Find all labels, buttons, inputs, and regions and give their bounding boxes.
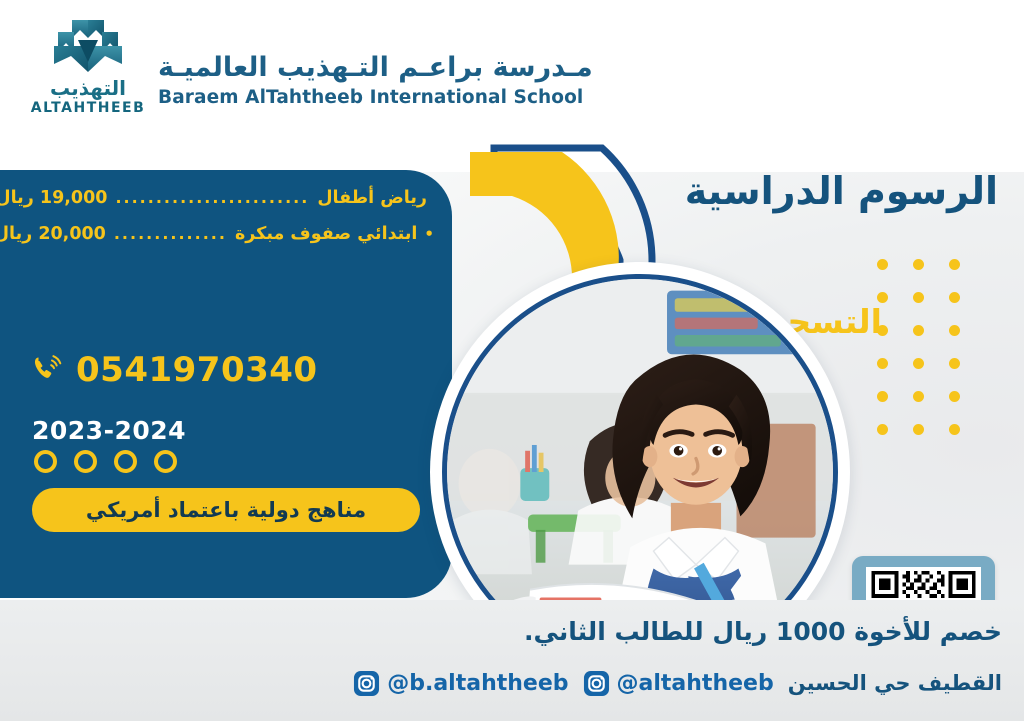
poster-header: التهذيب ALTAHTHEEB مـدرسة براعـم التـهذي…	[0, 0, 1024, 150]
logo-latin-wordmark: ALTAHTHEEB	[31, 101, 146, 115]
grid-dot	[913, 358, 924, 369]
grid-dot	[913, 325, 924, 336]
fee-amount: 20,000 ريال	[0, 224, 106, 244]
ring-decoration-group	[34, 450, 177, 473]
grid-dot	[877, 259, 888, 270]
instagram-icon[interactable]	[583, 670, 610, 697]
grid-dot	[877, 424, 888, 435]
instagram-icon[interactable]	[353, 670, 380, 697]
fee-leader-dots: ........................	[115, 188, 309, 207]
accreditation-badge-label: مناهج دولية باعتماد أمريكي	[86, 500, 366, 521]
ring-decoration	[114, 450, 137, 473]
grid-dot	[877, 391, 888, 402]
fee-bullet: •	[424, 227, 434, 242]
fee-leader-dots: ..............	[114, 224, 227, 243]
grid-dot	[949, 391, 960, 402]
grid-dot	[949, 292, 960, 303]
school-name-arabic: مـدرسة براعـم التـهذيب العالميـة	[158, 52, 593, 83]
location-text: القطيف حي الحسين	[788, 673, 1002, 694]
academic-year: 2023-2024	[32, 418, 186, 443]
instagram-account-b-altahtheeb[interactable]: @b.altahtheeb	[353, 670, 568, 697]
school-name-english: Baraem AlTahtheeb International School	[158, 87, 593, 109]
fee-label: ابتدائي صفوف مبكرة	[235, 224, 417, 244]
instagram-account-altahtheeb[interactable]: @altahtheeb	[583, 670, 774, 697]
grid-dot	[877, 325, 888, 336]
fees-list: رياض أطفال ........................ 19,0…	[0, 188, 452, 260]
altahtheeb-crown-leaf-logo-icon	[42, 18, 134, 76]
grid-dot	[949, 259, 960, 270]
dot-grid-decoration	[864, 248, 972, 446]
ring-decoration	[74, 450, 97, 473]
fee-row: رياض أطفال ........................ 19,0…	[30, 188, 434, 208]
grid-dot	[949, 424, 960, 435]
grid-dot	[949, 358, 960, 369]
page-title: الرسوم الدراسية	[685, 172, 998, 210]
grid-dot	[913, 292, 924, 303]
grid-dot	[877, 358, 888, 369]
grid-dot	[913, 391, 924, 402]
phone-contact[interactable]: 0541970340	[30, 352, 318, 388]
fee-amount: 19,000 ريال	[0, 188, 107, 208]
social-and-location-row: القطيف حي الحسين @altahtheeb @b.altahthe…	[353, 670, 1002, 697]
ring-decoration	[34, 450, 57, 473]
fee-row: • ابتدائي صفوف مبكرة .............. 20,0…	[30, 224, 434, 244]
grid-dot	[913, 259, 924, 270]
fees-poster: التهذيب ALTAHTHEEB مـدرسة براعـم التـهذي…	[0, 0, 1024, 721]
school-name-block: مـدرسة براعـم التـهذيب العالميـة Baraem …	[158, 52, 593, 109]
logo-arabic-wordmark: التهذيب	[50, 78, 126, 98]
ring-decoration	[154, 450, 177, 473]
accreditation-badge: مناهج دولية باعتماد أمريكي	[32, 488, 420, 532]
grid-dot	[913, 424, 924, 435]
school-logo: التهذيب ALTAHTHEEB	[22, 18, 154, 128]
grid-dot	[949, 325, 960, 336]
grid-dot	[877, 292, 888, 303]
instagram-handle[interactable]: @b.altahtheeb	[387, 673, 568, 695]
fee-label: رياض أطفال	[317, 188, 427, 208]
phone-ringing-icon	[30, 352, 66, 388]
instagram-handle[interactable]: @altahtheeb	[617, 673, 774, 695]
sibling-discount-text: خصم للأخوة 1000 ريال للطالب الثاني.	[524, 619, 1002, 644]
phone-number[interactable]: 0541970340	[76, 353, 318, 387]
